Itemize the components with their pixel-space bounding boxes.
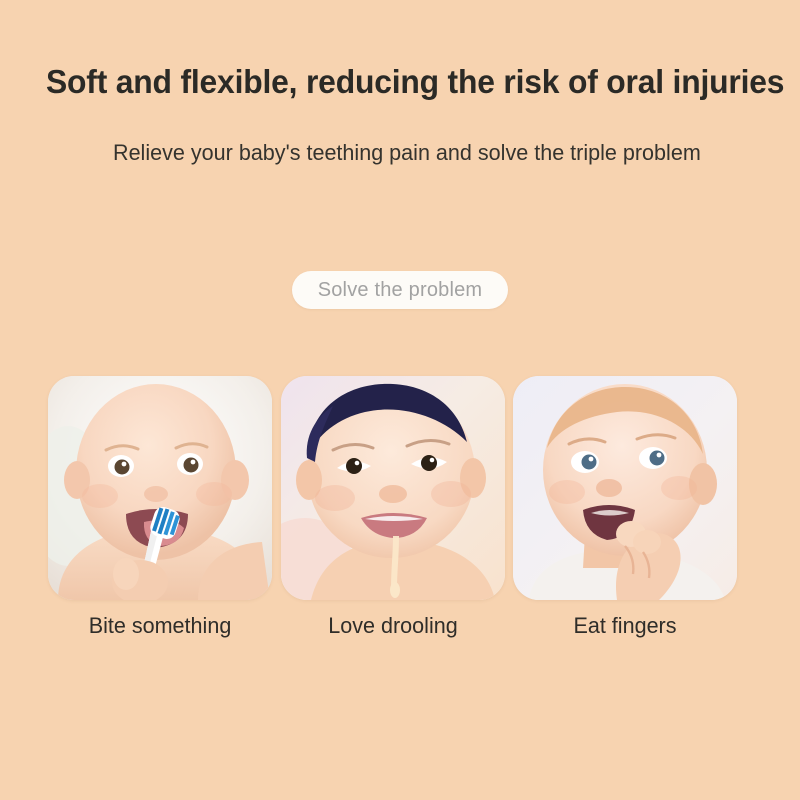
problem-card-caption: Bite something bbox=[50, 612, 270, 640]
page-title: Soft and flexible, reducing the risk of … bbox=[46, 62, 760, 102]
problem-card-eat-fingers[interactable]: Eat fingers bbox=[513, 376, 737, 640]
problem-card-caption: Eat fingers bbox=[515, 612, 735, 640]
problem-card-caption: Love drooling bbox=[283, 612, 503, 640]
promo-page: Soft and flexible, reducing the risk of … bbox=[0, 0, 800, 800]
baby-biting-toothbrush-photo bbox=[48, 376, 272, 600]
problem-card-bite-something[interactable]: Bite something bbox=[48, 376, 272, 640]
baby-sucking-fingers-photo bbox=[513, 376, 737, 600]
solve-the-problem-pill[interactable]: Solve the problem bbox=[292, 271, 509, 309]
page-subtitle: Relieve your baby's teething pain and so… bbox=[113, 136, 701, 169]
problem-cards-row: Bite something bbox=[48, 376, 737, 640]
baby-drooling-photo bbox=[281, 376, 505, 600]
problem-card-love-drooling[interactable]: Love drooling bbox=[281, 376, 505, 640]
solve-problem-banner: Solve the problem bbox=[0, 271, 800, 309]
